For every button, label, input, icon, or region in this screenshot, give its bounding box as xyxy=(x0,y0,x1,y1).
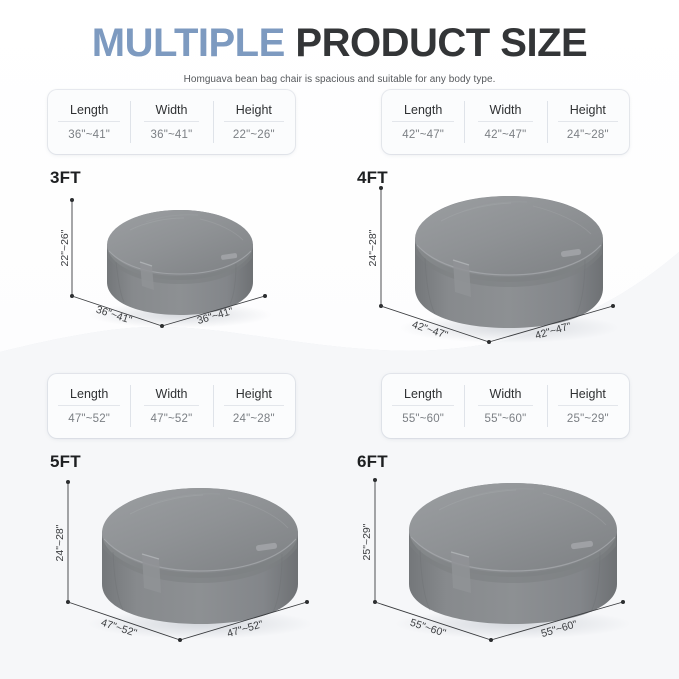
product-figure-4ft: 24"~28" 42"~47" 42"~47" xyxy=(357,170,647,355)
infographic-page: MULTIPLE PRODUCT SIZE Homguava bean bag … xyxy=(0,0,679,679)
spec-header-length: Length xyxy=(70,102,108,122)
product-figure-6ft: 25"~29" 55"~60" 55"~60" xyxy=(357,458,652,653)
size-label-3ft: 3FT xyxy=(50,168,81,188)
spec-header-width: Width xyxy=(490,102,522,122)
header: MULTIPLE PRODUCT SIZE Homguava bean bag … xyxy=(0,0,679,86)
spec-column-width: Width 36"~41" xyxy=(130,90,212,154)
size-label-4ft: 4FT xyxy=(357,168,388,188)
product-figure-5ft: 24"~28" 47"~52" 47"~52" xyxy=(50,462,340,652)
spec-value-width: 47"~52" xyxy=(151,406,193,427)
size-label-5ft: 5FT xyxy=(50,452,81,472)
spec-table-6ft: Length 55"~60" Width 55"~60" Height 25"~… xyxy=(382,374,629,438)
spec-column-width: Width 47"~52" xyxy=(130,374,212,438)
spec-value-height: 24"~28" xyxy=(233,406,275,427)
spec-header-length: Length xyxy=(404,102,442,122)
page-title: MULTIPLE PRODUCT SIZE xyxy=(0,0,679,66)
spec-value-length: 42"~47" xyxy=(402,122,444,143)
spec-column-length: Length 42"~47" xyxy=(382,90,464,154)
spec-column-length: Length 47"~52" xyxy=(48,374,130,438)
spec-header-height: Height xyxy=(236,386,272,406)
spec-column-width: Width 55"~60" xyxy=(464,374,546,438)
spec-value-length: 36"~41" xyxy=(68,122,110,143)
dimension-label-height: 22"~26" xyxy=(59,229,71,266)
spec-column-height: Height 25"~29" xyxy=(547,374,629,438)
spec-column-height: Height 22"~26" xyxy=(213,90,295,154)
spec-column-height: Height 24"~28" xyxy=(547,90,629,154)
spec-table-5ft: Length 47"~52" Width 47"~52" Height 24"~… xyxy=(48,374,295,438)
spec-column-height: Height 24"~28" xyxy=(213,374,295,438)
spec-value-width: 55"~60" xyxy=(485,406,527,427)
dimension-label-height: 24"~28" xyxy=(54,524,66,561)
spec-table-3ft: Length 36"~41" Width 36"~41" Height 22"~… xyxy=(48,90,295,154)
spec-value-height: 24"~28" xyxy=(567,122,609,143)
size-label-6ft: 6FT xyxy=(357,452,388,472)
title-main: PRODUCT SIZE xyxy=(295,21,587,65)
spec-header-height: Height xyxy=(570,102,606,122)
spec-header-width: Width xyxy=(156,102,188,122)
spec-value-length: 47"~52" xyxy=(68,406,110,427)
spec-table-4ft: Length 42"~47" Width 42"~47" Height 24"~… xyxy=(382,90,629,154)
page-subtitle: Homguava bean bag chair is spacious and … xyxy=(0,66,679,86)
spec-header-height: Height xyxy=(236,102,272,122)
spec-header-length: Length xyxy=(404,386,442,406)
spec-header-length: Length xyxy=(70,386,108,406)
spec-header-width: Width xyxy=(490,386,522,406)
product-figure-3ft: 22"~26" 36"~41" 36"~41" xyxy=(50,178,306,338)
spec-column-length: Length 55"~60" xyxy=(382,374,464,438)
spec-header-height: Height xyxy=(570,386,606,406)
spec-column-width: Width 42"~47" xyxy=(464,90,546,154)
spec-value-width: 36"~41" xyxy=(151,122,193,143)
dimension-label-height: 24"~28" xyxy=(367,229,379,266)
spec-value-width: 42"~47" xyxy=(485,122,527,143)
dimension-label-height: 25"~29" xyxy=(361,523,373,560)
spec-value-length: 55"~60" xyxy=(402,406,444,427)
spec-value-height: 25"~29" xyxy=(567,406,609,427)
spec-column-length: Length 36"~41" xyxy=(48,90,130,154)
spec-header-width: Width xyxy=(156,386,188,406)
title-accent: MULTIPLE xyxy=(92,21,285,65)
spec-value-height: 22"~26" xyxy=(233,122,275,143)
